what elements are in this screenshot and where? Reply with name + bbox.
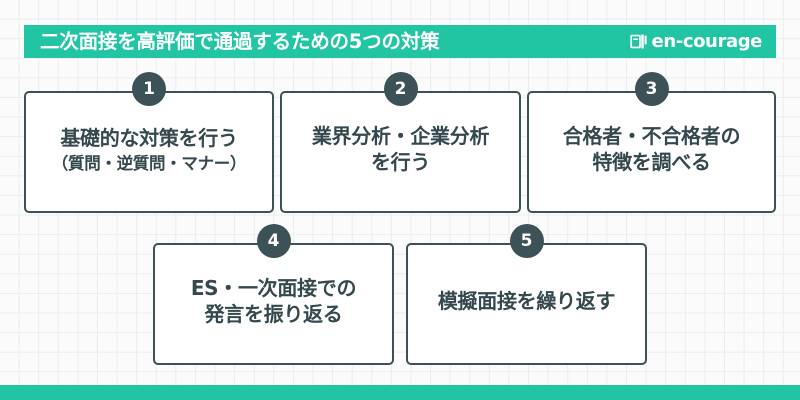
step-card-title: ES・一次面接での 発言を振り返る (191, 276, 356, 327)
step-number-badge: 5 (510, 224, 544, 258)
step-card-2: 2 業界分析・企業分析 を行う (280, 91, 521, 213)
step-card-title: 基礎的な対策を行う (60, 126, 237, 152)
step-card-3: 3 合格者・不合格者の 特徴を調べる (527, 91, 776, 213)
header-bar: 二次面接を高評価で通過するための5つの対策 en-courage (24, 25, 776, 58)
step-card-subtitle: （質問・逆質問・マナー） (52, 153, 246, 174)
step-number-badge: 1 (132, 72, 166, 106)
step-card-title: 合格者・不合格者の 特徴を調べる (563, 124, 740, 175)
brand-logo: en-courage (630, 32, 762, 51)
page-title: 二次面接を高評価で通過するための5つの対策 (40, 32, 439, 52)
step-card-4: 4 ES・一次面接での 発言を振り返る (153, 243, 394, 365)
footer-accent-band (0, 385, 800, 400)
step-card-5: 5 模擬面接を繰り返す (406, 243, 647, 365)
step-number-badge: 3 (635, 72, 669, 106)
step-card-title: 業界分析・企業分析 を行う (312, 124, 489, 175)
infographic-canvas: 二次面接を高評価で通過するための5つの対策 en-courage 1 基礎的な対… (0, 0, 800, 400)
step-number-badge: 2 (384, 72, 418, 106)
step-card-1: 1 基礎的な対策を行う （質問・逆質問・マナー） (24, 91, 274, 213)
step-number-badge: 4 (257, 224, 291, 258)
open-book-icon (630, 32, 649, 51)
step-card-title: 模擬面接を繰り返す (438, 289, 615, 315)
brand-name: en-courage (652, 33, 762, 51)
